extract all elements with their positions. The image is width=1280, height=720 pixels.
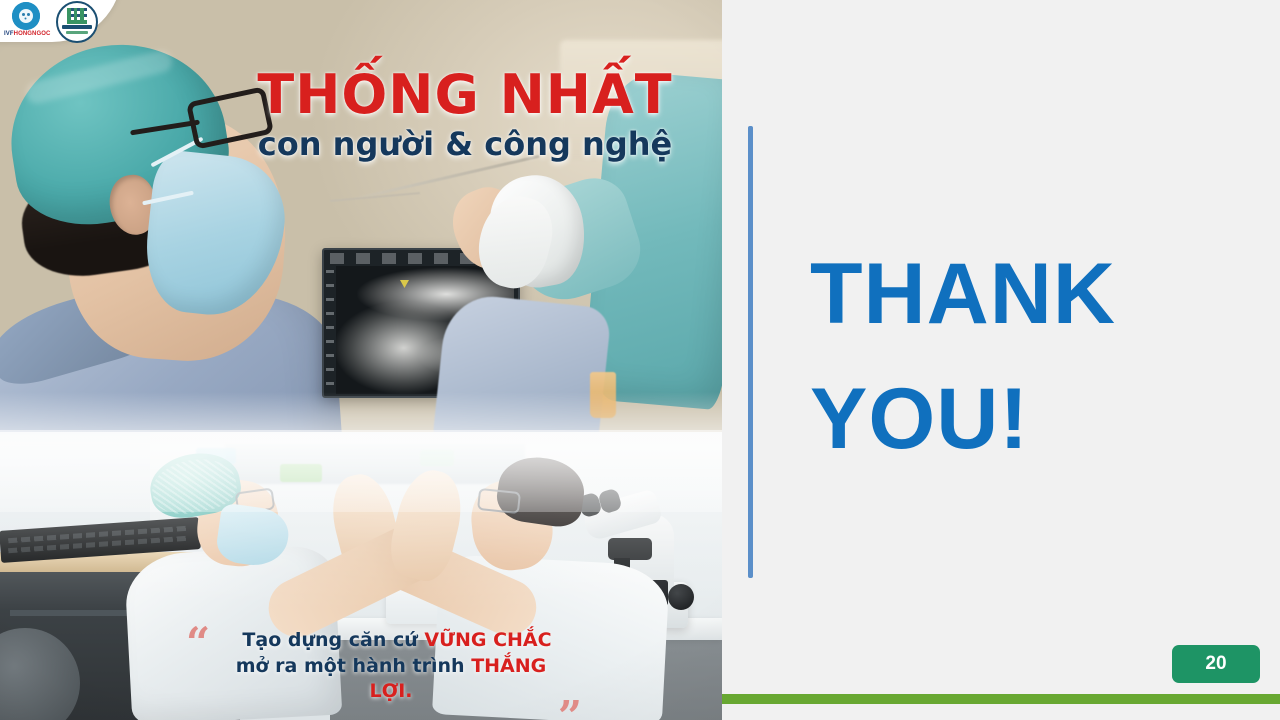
ultrasound-scale-markers — [326, 270, 334, 386]
seal-qr-icon — [67, 8, 87, 24]
slide-root: THỐNG NHẤT con người & công nghệ “ Tạo d… — [0, 0, 1280, 720]
thank-you-line-2: YOU! — [810, 357, 1240, 482]
ivf-wordmark: IVFHONGNGOC — [4, 31, 48, 37]
specimen-cup — [590, 372, 616, 418]
baby-icon — [19, 9, 33, 23]
shelf-box-green — [280, 464, 322, 482]
ivf-wordmark-secondary: HONGNGOC — [14, 31, 51, 37]
microscope-nosepiece — [608, 538, 652, 560]
content-panel: THANK YOU! 20 — [722, 0, 1280, 720]
microscope-focus-knob — [668, 584, 694, 610]
footer-rule — [722, 694, 1280, 704]
accent-vertical-rule — [748, 126, 753, 578]
seal-band-primary — [62, 25, 92, 29]
page-number-badge: 20 — [1172, 645, 1260, 683]
ivf-wordmark-primary: IVF — [4, 31, 14, 37]
lab-shelf — [225, 444, 525, 484]
thank-you-heading: THANK YOU! — [810, 232, 1240, 481]
baby-face-icon — [22, 13, 25, 16]
lab-scene — [0, 432, 722, 720]
seal-band-secondary — [66, 31, 88, 34]
certification-seal-logo — [56, 1, 98, 43]
male-staff-glasses — [477, 488, 521, 514]
shelf-box-mint — [420, 450, 454, 466]
thank-you-line-1: THANK — [810, 232, 1240, 357]
ivf-hongngoc-logo: IVFHONGNGOC — [4, 2, 48, 42]
clinic-photo-collage: THỐNG NHẤT con người & công nghệ “ Tạo d… — [0, 0, 722, 720]
logo-group: IVFHONGNGOC — [4, 2, 122, 42]
